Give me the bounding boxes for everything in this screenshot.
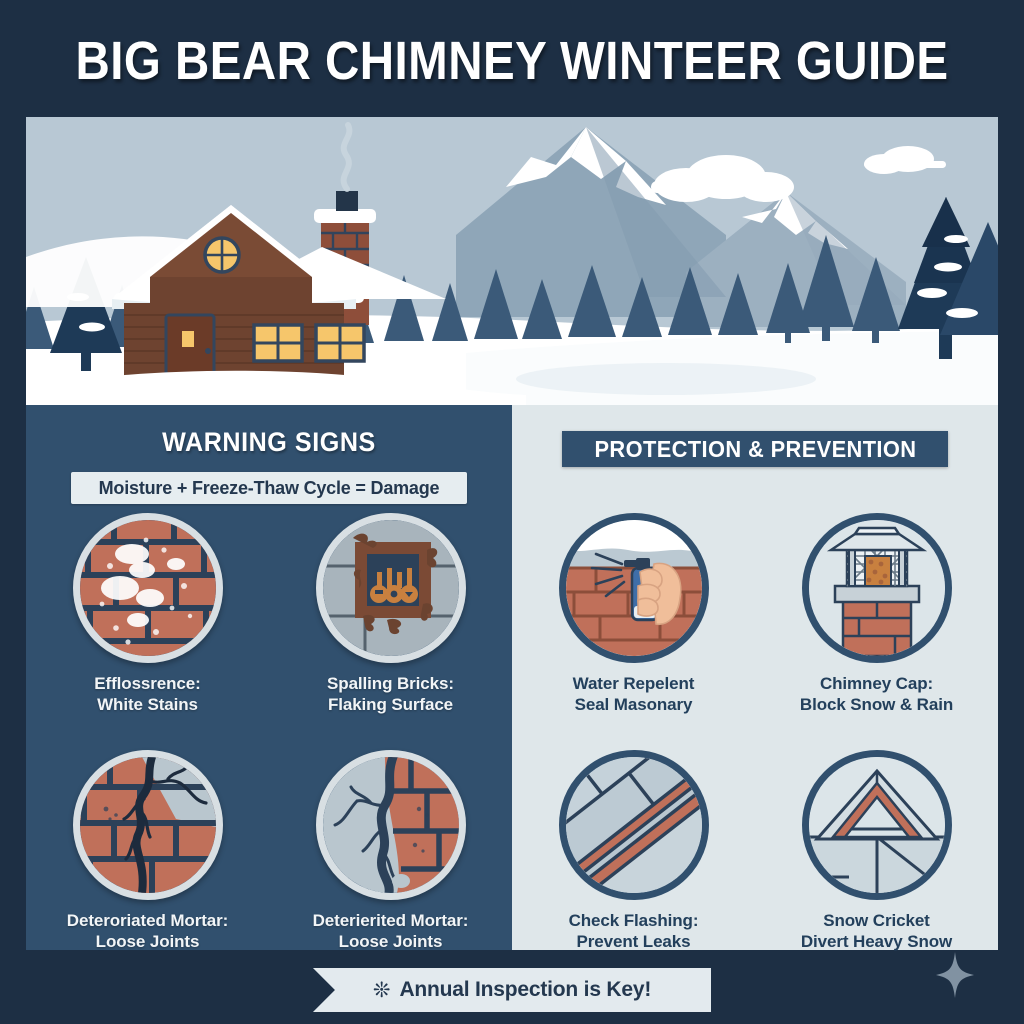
snow-cricket-icon bbox=[802, 750, 952, 900]
protection-item-caption: Chimney Cap: Block Snow & Rain bbox=[800, 673, 953, 716]
warning-item-caption: Efflossrence: White Stains bbox=[94, 673, 200, 716]
caption-line-1: Deterierited Mortar: bbox=[313, 910, 469, 931]
snowflake-icon: ❊ bbox=[373, 980, 391, 1001]
caption-line-1: Snow Cricket bbox=[801, 910, 952, 931]
protection-grid: Water Repelent Seal Masonary bbox=[512, 513, 998, 952]
caption-line-2: Loose Joints bbox=[67, 931, 228, 952]
protection-row-2: Check Flashing: Prevent Leaks bbox=[512, 750, 998, 953]
chimney-cap-icon bbox=[802, 513, 952, 663]
warning-signs-heading: WARNING SIGNS bbox=[43, 427, 495, 458]
warning-signs-row-1: Efflossrence: White Stains bbox=[26, 513, 512, 716]
protection-item-water-repellent[interactable]: Water Repelent Seal Masonary bbox=[512, 513, 755, 716]
caption-line-2: Prevent Leaks bbox=[569, 931, 699, 952]
caption-line-1: Chimney Cap: bbox=[800, 673, 953, 694]
protection-heading-banner: PROTECTION & PREVENTION bbox=[562, 431, 948, 467]
warning-item-mortar-right[interactable]: Deterierited Mortar: Loose Joints bbox=[269, 750, 512, 953]
caption-line-1: Water Repelent bbox=[573, 673, 695, 694]
roof-flashing-icon bbox=[559, 750, 709, 900]
caption-line-1: Deteroriated Mortar: bbox=[67, 910, 228, 931]
caption-line-2: White Stains bbox=[94, 694, 200, 715]
caption-line-1: Spalling Bricks: bbox=[327, 673, 454, 694]
warning-item-mortar-left[interactable]: Deteroriated Mortar: Loose Joints bbox=[26, 750, 269, 953]
warning-item-caption: Deteroriated Mortar: Loose Joints bbox=[67, 910, 228, 953]
page-title: BIG BEAR CHIMNEY WINTEER GUIDE bbox=[75, 30, 948, 92]
protection-item-flashing[interactable]: Check Flashing: Prevent Leaks bbox=[512, 750, 755, 953]
winter-cabin-scene-svg bbox=[26, 117, 998, 405]
warning-item-caption: Spalling Bricks: Flaking Surface bbox=[327, 673, 454, 716]
warning-item-efflorescence[interactable]: Efflossrence: White Stains bbox=[26, 513, 269, 716]
warning-item-spalling[interactable]: Spalling Bricks: Flaking Surface bbox=[269, 513, 512, 716]
hero-illustration bbox=[26, 117, 998, 405]
caption-line-1: Efflossrence: bbox=[94, 673, 200, 694]
caption-line-2: Flaking Surface bbox=[327, 694, 454, 715]
caption-line-2: Block Snow & Rain bbox=[800, 694, 953, 715]
protection-item-chimney-cap[interactable]: Chimney Cap: Block Snow & Rain bbox=[755, 513, 998, 716]
footer-ribbon-inner: ❊ Annual Inspection is Key! bbox=[313, 968, 711, 1012]
four-point-sparkle-icon bbox=[936, 952, 974, 998]
protection-item-snow-cricket[interactable]: Snow Cricket Divert Heavy Snow bbox=[755, 750, 998, 953]
caption-line-2: Loose Joints bbox=[313, 931, 469, 952]
infographic-page: BIG BEAR CHIMNEY WINTEER GUIDE bbox=[0, 0, 1024, 1024]
protection-item-caption: Water Repelent Seal Masonary bbox=[573, 673, 695, 716]
warning-signs-subtitle: Moisture + Freeze-Thaw Cycle = Damage bbox=[71, 472, 467, 504]
protection-heading: PROTECTION & PREVENTION bbox=[594, 436, 916, 463]
warning-signs-row-2: Deteroriated Mortar: Loose Joints bbox=[26, 750, 512, 953]
spray-sealant-icon bbox=[559, 513, 709, 663]
warning-item-caption: Deterierited Mortar: Loose Joints bbox=[313, 910, 469, 953]
protection-prevention-panel: PROTECTION & PREVENTION bbox=[512, 405, 998, 950]
efflorescence-brick-icon bbox=[73, 513, 223, 663]
protection-row-1: Water Repelent Seal Masonary bbox=[512, 513, 998, 716]
spalling-brick-icon bbox=[316, 513, 466, 663]
caption-line-2: Divert Heavy Snow bbox=[801, 931, 952, 952]
warning-signs-grid: Efflossrence: White Stains bbox=[26, 513, 512, 952]
protection-item-caption: Snow Cricket Divert Heavy Snow bbox=[801, 910, 952, 953]
warning-signs-panel: WARNING SIGNS Moisture + Freeze-Thaw Cyc… bbox=[26, 405, 512, 950]
cracked-mortar-left-icon bbox=[73, 750, 223, 900]
page-title-bar: BIG BEAR CHIMNEY WINTEER GUIDE bbox=[0, 22, 1024, 100]
footer-ribbon: ❊ Annual Inspection is Key! bbox=[313, 968, 711, 1012]
cracked-mortar-right-icon bbox=[316, 750, 466, 900]
caption-line-2: Seal Masonary bbox=[573, 694, 695, 715]
protection-item-caption: Check Flashing: Prevent Leaks bbox=[569, 910, 699, 953]
footer-text: Annual Inspection is Key! bbox=[399, 978, 651, 1002]
caption-line-1: Check Flashing: bbox=[569, 910, 699, 931]
